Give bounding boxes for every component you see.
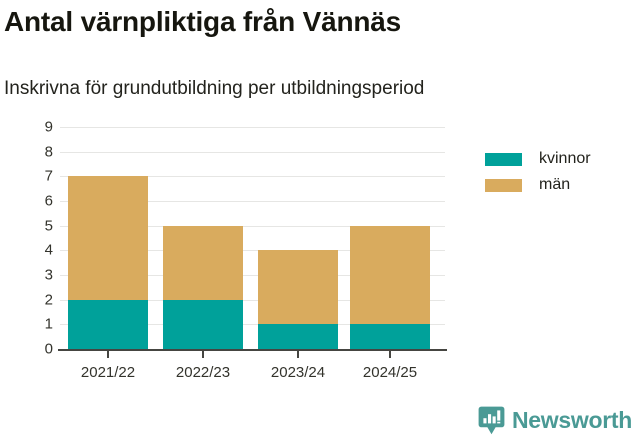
x-tick-mark [297, 351, 299, 358]
bar-segment-män[interactable] [258, 250, 338, 324]
bar-group[interactable] [350, 127, 430, 349]
bar-segment-män[interactable] [163, 226, 243, 300]
y-tick-label: 4 [13, 242, 53, 259]
bar-chart-speech-bubble-icon [478, 406, 505, 435]
y-tick-label: 6 [13, 193, 53, 210]
bar-segment-män[interactable] [68, 176, 148, 299]
bar-segment-män[interactable] [350, 226, 430, 325]
y-tick-label: 9 [13, 119, 53, 136]
y-tick-label: 3 [13, 267, 53, 284]
page-title: Antal värnpliktiga från Vännäs [4, 6, 401, 38]
newsworthy-logo[interactable]: Newsworthy [478, 406, 631, 435]
legend-label-man: män [539, 176, 570, 194]
x-tick-mark [107, 351, 109, 358]
y-tick-label: 8 [13, 143, 53, 160]
bar-segment-kvinnor[interactable] [258, 324, 338, 349]
y-tick-label: 0 [13, 341, 53, 358]
bar-group[interactable] [163, 127, 243, 349]
x-tick-label: 2021/22 [81, 364, 135, 381]
legend-label-kvinnor: kvinnor [539, 150, 591, 168]
x-tick-mark [202, 351, 204, 358]
bar-segment-kvinnor[interactable] [350, 324, 430, 349]
legend-item-man[interactable]: män [485, 172, 591, 198]
y-tick-label: 2 [13, 291, 53, 308]
women-swatch-icon [485, 153, 522, 166]
chart-subtitle: Inskrivna för grundutbildning per utbild… [4, 78, 424, 100]
newsworthy-wordmark: Newsworthy [512, 407, 631, 434]
y-tick-label: 7 [13, 168, 53, 185]
bar-group[interactable] [68, 127, 148, 349]
legend-item-kvinnor[interactable]: kvinnor [485, 146, 591, 172]
chart-legend: kvinnor män [485, 146, 591, 198]
x-tick-label: 2024/25 [363, 364, 417, 381]
bar-segment-kvinnor[interactable] [163, 300, 243, 349]
x-tick-mark [389, 351, 391, 358]
bar-group[interactable] [258, 127, 338, 349]
y-tick-label: 5 [13, 217, 53, 234]
chart-plot-area: 0123456789 2021/222022/232023/242024/25 [0, 118, 460, 358]
x-tick-label: 2023/24 [271, 364, 325, 381]
bar-segment-kvinnor[interactable] [68, 300, 148, 349]
men-swatch-icon [485, 179, 522, 192]
y-tick-label: 1 [13, 316, 53, 333]
x-tick-label: 2022/23 [176, 364, 230, 381]
